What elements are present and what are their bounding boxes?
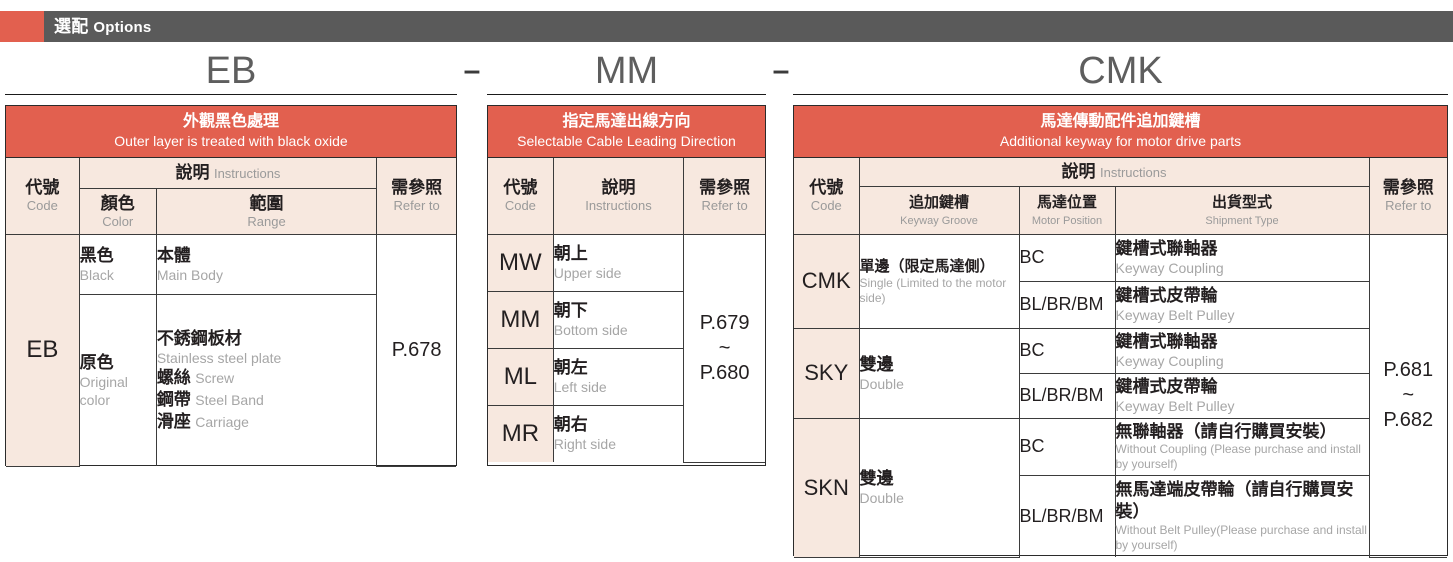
table-row: CMK 單邊（限定馬達側） Single (Limited to the mot… — [794, 234, 1447, 281]
col-header-instructions-en: Instructions — [214, 166, 280, 181]
cell-motor-position-cmk-bl: BL/BR/BM — [1019, 281, 1115, 328]
table-eb-header-en: Outer layer is treated with black oxide — [6, 132, 456, 150]
table-row: SKY 雙邊 Double BC 鍵槽式聯軸器 Keyway Coupling — [794, 328, 1447, 373]
code-title-mm: MM — [487, 48, 766, 95]
cell-motor-position-skn-bc: BC — [1019, 418, 1115, 475]
cell-color-black: 黑色 Black — [79, 234, 156, 294]
cell-motor-position-sky-bc: BC — [1019, 328, 1115, 373]
col-header-instructions-zh: 說明 — [176, 163, 210, 182]
banner-accent-block — [0, 11, 44, 42]
col-header-instructions: 說明 Instructions — [859, 158, 1369, 186]
separator-dash-2: – — [770, 48, 792, 94]
cell-motor-position-skn-bl: BL/BR/BM — [1019, 475, 1115, 557]
cell-code-mm: MM — [488, 291, 553, 348]
table-eb-grid: 代號 Code 說明 Instructions 需參照 Refer to 顏色 … — [6, 158, 456, 467]
col-header-color: 顏色 Color — [79, 188, 156, 234]
cell-shipment-cmk-bc: 鍵槽式聯軸器 Keyway Coupling — [1115, 234, 1369, 281]
cell-code-sky: SKY — [794, 328, 859, 418]
table-row: EB 黑色 Black 本體 Main Body P.678 — [6, 234, 456, 294]
refer-line-3: P.680 — [684, 361, 765, 386]
col-header-refer: 需參照 Refer to — [1369, 158, 1447, 234]
table-eb-header-zh: 外觀黑色處理 — [6, 112, 456, 132]
col-header-color-zh: 顏色 — [80, 193, 156, 214]
cell-shipment-cmk-bl: 鍵槽式皮帶輪 Keyway Belt Pulley — [1115, 281, 1369, 328]
cell-motor-position-cmk-bc: BC — [1019, 234, 1115, 281]
cell-refer-mm: P.679 ~ P.680 — [684, 234, 765, 462]
code-title-cmk: CMK — [793, 48, 1448, 95]
col-header-code: 代號 Code — [794, 158, 859, 234]
cell-color-original: 原色 Original color — [79, 294, 156, 466]
cell-code-skn: SKN — [794, 418, 859, 557]
refer-line-1: P.681 — [1370, 358, 1448, 383]
table-row-header-1: 代號 Code 說明 Instructions 需參照 Refer to — [488, 158, 765, 234]
col-header-refer: 需參照 Refer to — [684, 158, 765, 234]
col-header-code: 代號 Code — [488, 158, 553, 234]
cell-refer-eb: P.678 — [377, 234, 456, 466]
separator-dash-1: – — [460, 48, 484, 94]
table-row-header-2: 追加鍵槽 Keyway Groove 馬達位置 Motor Position 出… — [794, 186, 1447, 234]
refer-line-1: P.679 — [684, 311, 765, 336]
table-row: MW 朝上 Upper side P.679 ~ P.680 — [488, 234, 765, 291]
table-cmk: 馬達傳動配件追加鍵槽 Additional keyway for motor d… — [793, 105, 1448, 556]
banner-title-en: Options — [93, 19, 151, 36]
col-header-code: 代號 Code — [6, 158, 79, 234]
table-eb-header: 外觀黑色處理 Outer layer is treated with black… — [6, 106, 456, 158]
col-header-range-en: Range — [157, 214, 376, 230]
col-header-shipment-type: 出貨型式 Shipment Type — [1115, 186, 1369, 234]
cell-instruction-mm: 朝下 Bottom side — [553, 291, 683, 348]
cell-keyway-cmk: 單邊（限定馬達側） Single (Limited to the motor s… — [859, 234, 1019, 328]
range-line-carriage: 滑座 Carriage — [157, 411, 376, 433]
table-mm-header: 指定馬達出線方向 Selectable Cable Leading Direct… — [488, 106, 765, 158]
table-mm: 指定馬達出線方向 Selectable Cable Leading Direct… — [487, 105, 766, 466]
table-cmk-grid: 代號 Code 說明 Instructions 需參照 Refer to 追加鍵… — [794, 158, 1447, 558]
options-banner: 選配 Options — [0, 11, 1453, 42]
col-header-code-zh: 代號 — [6, 177, 79, 198]
cell-shipment-skn-bl: 無馬達端皮帶輪（請自行購買安裝） Without Belt Pulley(Ple… — [1115, 475, 1369, 557]
col-header-instructions: 說明 Instructions — [553, 158, 683, 234]
code-title-eb: EB — [5, 48, 457, 95]
cell-instruction-ml: 朝左 Left side — [553, 348, 683, 405]
cell-code-mr: MR — [488, 405, 553, 462]
cell-range-main-body: 本體 Main Body — [156, 234, 376, 294]
table-row-header-1: 代號 Code 說明 Instructions 需參照 Refer to — [6, 158, 456, 188]
cell-keyway-sky: 雙邊 Double — [859, 328, 1019, 418]
cell-keyway-skn: 雙邊 Double — [859, 418, 1019, 557]
refer-line-2: ~ — [1370, 383, 1448, 408]
table-eb: 外觀黑色處理 Outer layer is treated with black… — [5, 105, 457, 466]
col-header-instructions: 說明 Instructions — [79, 158, 377, 188]
table-row: SKN 雙邊 Double BC 無聯軸器（請自行購買安裝） Without C… — [794, 418, 1447, 475]
cell-range-original: 不銹鋼板材 Stainless steel plate 螺絲 Screw 鋼帶 … — [156, 294, 376, 466]
col-header-range: 範圍 Range — [156, 188, 376, 234]
cell-code-cmk: CMK — [794, 234, 859, 328]
col-header-keyway-groove: 追加鍵槽 Keyway Groove — [859, 186, 1019, 234]
cell-shipment-sky-bl: 鍵槽式皮帶輪 Keyway Belt Pulley — [1115, 373, 1369, 418]
table-cmk-header: 馬達傳動配件追加鍵槽 Additional keyway for motor d… — [794, 106, 1447, 158]
table-mm-header-zh: 指定馬達出線方向 — [488, 112, 765, 132]
col-header-code-en: Code — [6, 198, 79, 214]
table-mm-header-en: Selectable Cable Leading Direction — [488, 132, 765, 150]
table-cmk-header-en: Additional keyway for motor drive parts — [794, 132, 1447, 150]
range-line-steel-band: 鋼帶 Steel Band — [157, 389, 376, 411]
col-header-range-zh: 範圍 — [157, 193, 376, 214]
cell-shipment-sky-bc: 鍵槽式聯軸器 Keyway Coupling — [1115, 328, 1369, 373]
range-line-screw: 螺絲 Screw — [157, 367, 376, 389]
col-header-refer: 需參照 Refer to — [377, 158, 456, 234]
refer-line-3: P.682 — [1370, 408, 1448, 433]
banner-title-zh: 選配 — [54, 17, 88, 36]
col-header-refer-zh: 需參照 — [377, 177, 456, 198]
cell-motor-position-sky-bl: BL/BR/BM — [1019, 373, 1115, 418]
table-mm-grid: 代號 Code 說明 Instructions 需參照 Refer to MW … — [488, 158, 765, 463]
table-row-header-1: 代號 Code 說明 Instructions 需參照 Refer to — [794, 158, 1447, 186]
cell-code-eb: EB — [6, 234, 79, 466]
banner-title: 選配 Options — [54, 11, 151, 43]
cell-code-mw: MW — [488, 234, 553, 291]
col-header-refer-en: Refer to — [377, 198, 456, 214]
cell-instruction-mr: 朝右 Right side — [553, 405, 683, 462]
cell-refer-cmk: P.681 ~ P.682 — [1369, 234, 1447, 557]
cell-code-ml: ML — [488, 348, 553, 405]
col-header-color-en: Color — [80, 214, 156, 230]
banner-bar: 選配 Options — [44, 11, 1453, 42]
refer-line-2: ~ — [684, 336, 765, 361]
col-header-motor-position: 馬達位置 Motor Position — [1019, 186, 1115, 234]
cell-shipment-skn-bc: 無聯軸器（請自行購買安裝） Without Coupling (Please p… — [1115, 418, 1369, 475]
table-cmk-header-zh: 馬達傳動配件追加鍵槽 — [794, 112, 1447, 132]
cell-instruction-mw: 朝上 Upper side — [553, 234, 683, 291]
code-title-row: EB – MM – CMK — [0, 48, 1453, 100]
